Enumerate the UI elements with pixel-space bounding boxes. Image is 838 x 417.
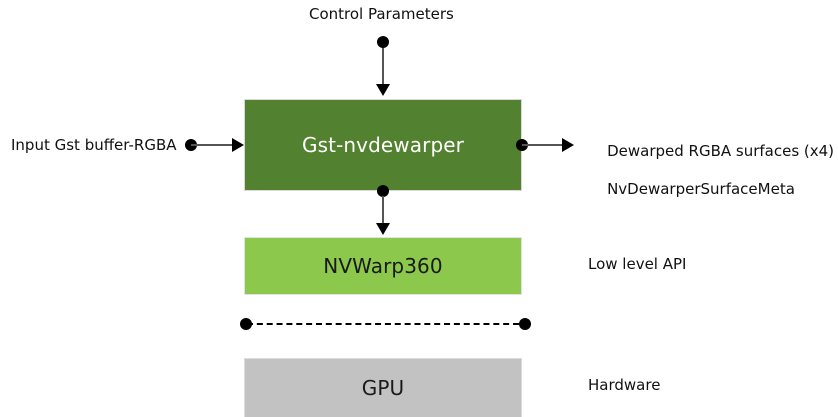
- output-surfaces-label-line2: NvDewarperSurfaceMeta: [607, 180, 795, 198]
- node-nvwarp360-label: NVWarp360: [323, 256, 442, 276]
- input-buffer-arrowhead-icon: [232, 138, 244, 152]
- node-gst-nvdewarper: Gst-nvdewarper: [244, 99, 522, 191]
- input-buffer-connector-line: [191, 144, 238, 146]
- control-parameters-label: Control Parameters: [309, 5, 454, 24]
- hardware-label: Hardware: [588, 376, 660, 395]
- node-gst-nvdewarper-label: Gst-nvdewarper: [302, 135, 464, 155]
- low-level-api-label: Low level API: [588, 255, 686, 274]
- control-parameters-arrowhead-icon: [376, 84, 390, 96]
- software-hardware-boundary-line: [247, 323, 519, 325]
- node-gpu: GPU: [244, 358, 522, 417]
- input-buffer-label: Input Gst buffer-RGBA: [11, 136, 177, 155]
- control-parameters-connector-line: [382, 48, 384, 84]
- control-parameters-endpoint-dot: [377, 36, 389, 48]
- node-gpu-label: GPU: [362, 378, 405, 398]
- output-surfaces-label-line1: Dewarped RGBA surfaces (x4) +: [607, 142, 838, 160]
- output-surfaces-label: Dewarped RGBA surfaces (x4) + NvDewarper…: [588, 123, 838, 218]
- output-arrowhead-icon: [562, 138, 574, 152]
- boundary-right-dot: [519, 318, 531, 330]
- plugin-to-api-arrowhead-icon: [376, 223, 390, 235]
- node-nvwarp360: NVWarp360: [244, 237, 522, 295]
- block-diagram: Control Parameters Input Gst buffer-RGBA…: [0, 0, 838, 417]
- plugin-to-api-connector-line: [382, 196, 384, 224]
